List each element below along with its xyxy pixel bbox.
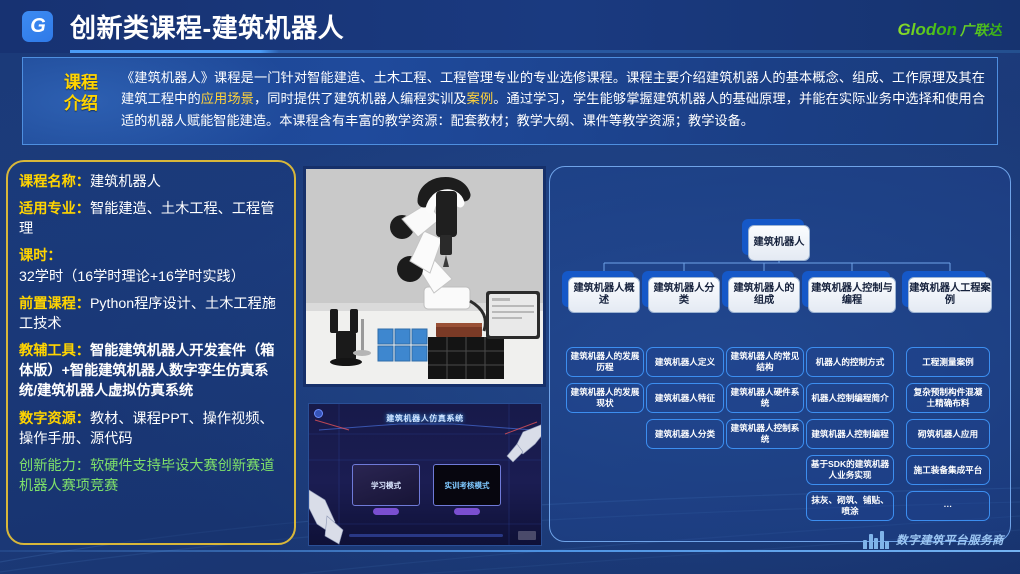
diagram-leaf-node[interactable]: 建筑机器人控制系统 [726, 419, 804, 449]
node-label: 建筑机器人 [754, 237, 805, 249]
intro-highlight-1: 应用场景 [201, 91, 254, 106]
sim-footer-button[interactable] [518, 531, 536, 540]
course-intro-box: 课程 介绍 《建筑机器人》课程是一门针对智能建造、土木工程、工程管理专业的专业选… [22, 57, 998, 145]
diagram-leaf-node[interactable]: 抹灰、砌筑、铺贴、喷涂 [806, 491, 894, 521]
course-info-row: 适用专业：智能建造、土木工程、工程管理 [19, 199, 283, 239]
diagram-leaf-node[interactable]: 施工装备集成平台 [906, 455, 990, 485]
node-chip: 建筑机器人的组成 [728, 277, 800, 313]
slide-root: G 创新类课程-建筑机器人 Glodon 广联达 课程 介绍 《建筑机器人》课程… [0, 0, 1020, 574]
diagram-leaf-node[interactable]: 建筑机器人控制编程 [806, 419, 894, 449]
simulation-system-screenshot: 建筑机器人仿真系统 学习模式 实训考核模式 [308, 403, 542, 546]
intro-badge-line2: 介绍 [49, 93, 113, 114]
diagram-leaf-node[interactable]: 建筑机器人硬件系统 [726, 383, 804, 413]
diagram-leaf-node[interactable]: 基于SDK的建筑机器人业务实现 [806, 455, 894, 485]
intro-badge-line1: 课程 [49, 72, 113, 93]
footer-slogan: 数字建筑平台服务商 [896, 532, 1004, 548]
node-label: 建筑机器人概述 [569, 283, 639, 308]
header-bar: G 创新类课程-建筑机器人 Glodon 广联达 [0, 0, 1020, 53]
intro-paragraph: 《建筑机器人》课程是一门针对智能建造、土木工程、工程管理专业的专业选修课程。课程… [121, 67, 985, 131]
node-chip: 建筑机器人控制与编程 [808, 277, 896, 313]
intro-highlight-2: 案例 [467, 91, 494, 106]
node-chip: 建筑机器人概述 [568, 277, 640, 313]
sim-title: 建筑机器人仿真系统 [309, 413, 541, 424]
diagram-leaf-node[interactable]: 建筑机器人特征 [646, 383, 724, 413]
node-label: 建筑机器人的组成 [729, 283, 799, 308]
course-info-key: 课程名称： [19, 174, 90, 190]
diagram-leaf-node[interactable]: 砌筑机器人应用 [906, 419, 990, 449]
robot-arm-photo [303, 166, 546, 387]
sim-mode-assessment[interactable]: 实训考核模式 [433, 464, 501, 506]
course-info-panel: 课程名称：建筑机器人适用专业：智能建造、土木工程、工程管理课时：32学时（16学… [6, 160, 296, 545]
intro-badge: 课程 介绍 [49, 72, 113, 115]
course-info-key: 课时： [19, 248, 62, 264]
header-divider [70, 50, 1020, 53]
sim-enter-button-learning[interactable] [373, 508, 399, 515]
node-chip: 建筑机器人 [748, 225, 810, 261]
course-info-key: 前置课程： [19, 296, 90, 312]
diagram-branch-node[interactable]: 建筑机器人分类 [648, 277, 720, 313]
course-info-row: 教辅工具：智能建筑机器人开发套件（箱体版）+智能建筑机器人数字孪生仿真系统/建筑… [19, 341, 283, 401]
diagram-leaf-node[interactable]: 建筑机器人的发展历程 [566, 347, 644, 377]
diagram-leaf-node[interactable]: 工程测量案例 [906, 347, 990, 377]
robot-arm-illustration [306, 169, 546, 387]
course-info-row: 创新能力：软硬件支持毕设大赛创新赛道机器人赛项竞赛 [19, 456, 283, 496]
brand-name-en: Glodon [898, 20, 957, 40]
intro-text-2: ，同时提供了建筑机器人编程实训及 [254, 91, 467, 106]
node-chip: 建筑机器人分类 [648, 277, 720, 313]
brand-logo: Glodon 广联达 [898, 20, 1002, 40]
node-label: 建筑机器人分类 [649, 283, 719, 308]
diagram-leaf-node[interactable]: 复杂预制构件混凝土精确布料 [906, 383, 990, 413]
simulation-background [309, 404, 542, 546]
diagram-leaf-node[interactable]: 机器人的控制方式 [806, 347, 894, 377]
diagram-branch-node[interactable]: 建筑机器人的组成 [728, 277, 800, 313]
course-info-row: 前置课程：Python程序设计、土木工程施工技术 [19, 294, 283, 334]
diagram-branch-node[interactable]: 建筑机器人概述 [568, 277, 640, 313]
course-info-value: 建筑机器人 [90, 174, 161, 190]
course-info-key: 教辅工具： [19, 343, 90, 359]
footer-divider [0, 550, 1020, 552]
diagram-branch-node[interactable]: 建筑机器人控制与编程 [808, 277, 896, 313]
node-chip: 建筑机器人工程案例 [908, 277, 992, 313]
diagram-root-node[interactable]: 建筑机器人 [748, 225, 810, 261]
node-label: 建筑机器人工程案例 [909, 283, 991, 308]
diagram-leaf-node[interactable]: 建筑机器人的常见结构 [726, 347, 804, 377]
course-info-key: 创新能力： [19, 458, 90, 474]
footer-brand: 数字建筑平台服务商 [863, 531, 1004, 549]
diagram-leaf-node[interactable]: ··· [906, 491, 990, 521]
brand-name-cn: 广联达 [960, 20, 1002, 40]
course-info-key: 数字资源： [19, 411, 90, 427]
course-info-key: 适用专业： [19, 201, 90, 217]
diagram-leaf-node[interactable]: 建筑机器人的发展现状 [566, 383, 644, 413]
diagram-leaf-node[interactable]: 建筑机器人分类 [646, 419, 724, 449]
course-info-value: 32学时（16学时理论+16学时实践） [19, 269, 245, 285]
course-info-row: 数字资源：教材、课程PPT、操作视频、操作手册、源代码 [19, 409, 283, 449]
diagram-leaf-node[interactable]: 建筑机器人定义 [646, 347, 724, 377]
course-info-row: 课程名称：建筑机器人 [19, 172, 283, 192]
sim-enter-button-assessment[interactable] [454, 508, 480, 515]
course-info-row: 课时：32学时（16学时理论+16学时实践） [19, 246, 283, 286]
diagram-leaf-node[interactable]: 机器人控制编程简介 [806, 383, 894, 413]
page-title: 创新类课程-建筑机器人 [70, 8, 344, 45]
course-outline-diagram: 建筑机器人 建筑机器人概述建筑机器人的发展历程建筑机器人的发展现状 建筑机器人分… [549, 166, 1011, 542]
node-label: 建筑机器人控制与编程 [809, 283, 895, 308]
sim-mode-learning[interactable]: 学习模式 [352, 464, 420, 506]
building-icon [863, 531, 889, 549]
glodon-logo-icon: G [22, 11, 53, 42]
diagram-branch-node[interactable]: 建筑机器人工程案例 [908, 277, 992, 313]
